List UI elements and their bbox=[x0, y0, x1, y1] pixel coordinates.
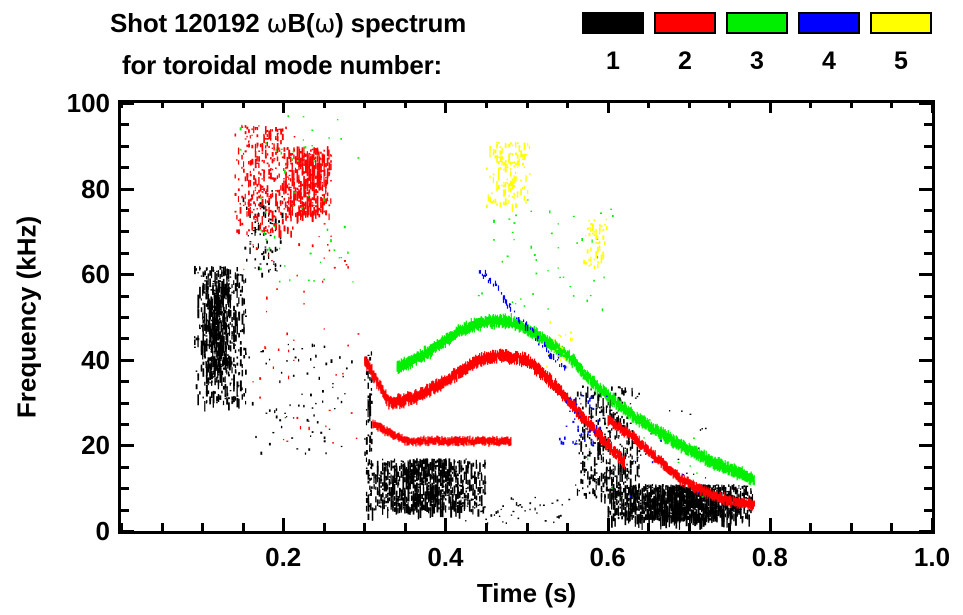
plot-frame-bottom bbox=[118, 531, 935, 534]
legend-label-mode-5: 5 bbox=[870, 48, 932, 74]
y-tick-label-20: 20 bbox=[81, 432, 110, 458]
legend-item-mode-2: 2 bbox=[654, 12, 716, 34]
omega-symbol-1: ω bbox=[267, 9, 288, 38]
spectrogram-plot bbox=[121, 103, 932, 531]
figure-title-line-1: Shot 120192 ωB(ω) spectrum bbox=[110, 8, 466, 39]
plot-frame-right bbox=[932, 100, 935, 534]
x-tick-label-0.4: 0.4 bbox=[427, 544, 463, 570]
x-tick-label-1.0: 1.0 bbox=[914, 544, 950, 570]
legend-item-mode-5: 5 bbox=[870, 12, 932, 34]
y-tick-label-0: 0 bbox=[96, 518, 110, 544]
legend-swatch-mode-1 bbox=[582, 12, 644, 34]
figure-title-line-2: for toroidal mode number: bbox=[122, 50, 442, 81]
x-tick-label-0.2: 0.2 bbox=[265, 544, 301, 570]
y-tick-label-80: 80 bbox=[81, 176, 110, 202]
y-tick-label-60: 60 bbox=[81, 261, 110, 287]
plot-area: 0204060801000.20.40.60.81.0 bbox=[118, 100, 935, 534]
legend-label-mode-2: 2 bbox=[654, 48, 716, 74]
legend-label-mode-4: 4 bbox=[798, 48, 860, 74]
spectrogram-figure: Shot 120192 ωB(ω) spectrum for toroidal … bbox=[0, 0, 963, 615]
x-tick-label-0.8: 0.8 bbox=[752, 544, 788, 570]
x-axis-title: Time (s) bbox=[118, 578, 935, 609]
title-spectrum-text: ) spectrum bbox=[335, 8, 466, 38]
y-axis-title: Frequency (kHz) bbox=[10, 100, 44, 534]
legend-swatch-mode-3 bbox=[726, 12, 788, 34]
x-tick-label-0.6: 0.6 bbox=[590, 544, 626, 570]
legend: 12345 bbox=[582, 12, 952, 84]
omega-symbol-2: ω bbox=[314, 9, 335, 38]
y-tick-label-100: 100 bbox=[67, 90, 110, 116]
title-shot-text: Shot 120192 bbox=[110, 8, 267, 38]
legend-swatch-mode-2 bbox=[654, 12, 716, 34]
legend-item-mode-1: 1 bbox=[582, 12, 644, 34]
legend-item-mode-3: 3 bbox=[726, 12, 788, 34]
legend-swatch-mode-4 bbox=[798, 12, 860, 34]
series-mode-5 bbox=[486, 142, 608, 369]
title-b-text: B( bbox=[287, 8, 314, 38]
y-axis-title-label: Frequency (kHz) bbox=[12, 216, 43, 418]
legend-label-mode-3: 3 bbox=[726, 48, 788, 74]
legend-swatch-mode-5 bbox=[870, 12, 932, 34]
y-tick-label-40: 40 bbox=[81, 347, 110, 373]
legend-item-mode-4: 4 bbox=[798, 12, 860, 34]
legend-label-mode-1: 1 bbox=[582, 48, 644, 74]
spectrogram-canvas bbox=[121, 103, 932, 531]
